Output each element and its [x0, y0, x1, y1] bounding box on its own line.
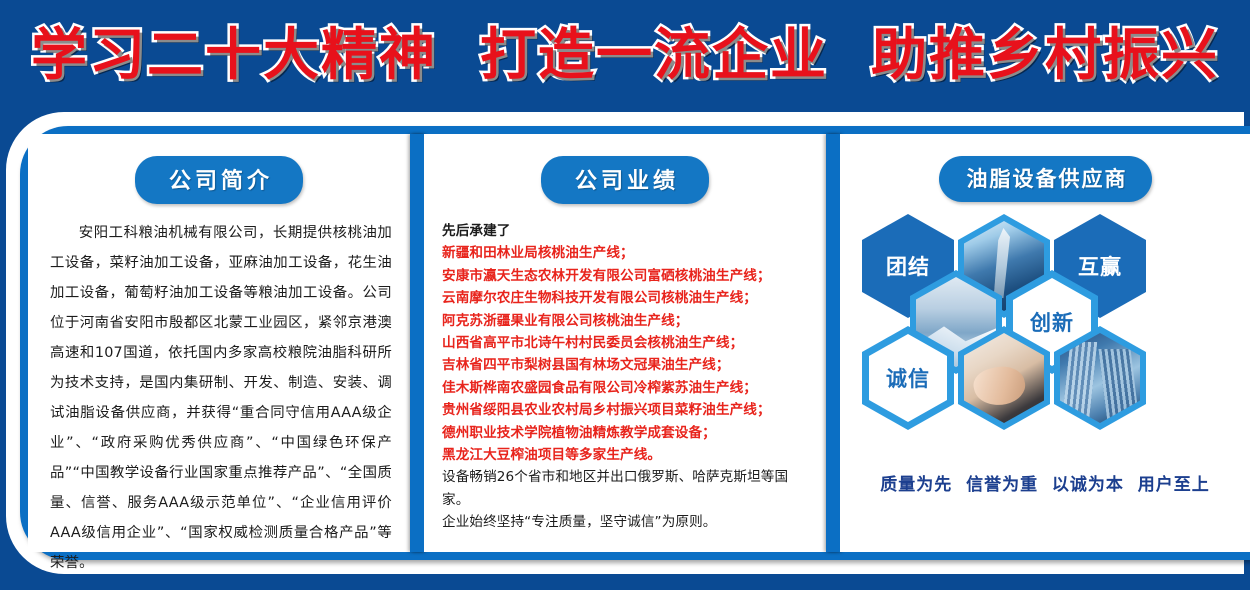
list-item: 佳木斯桦南农盛园食品有限公司冷榨紫苏油生产线； [442, 377, 812, 399]
company-intro-body: 安阳工科粮油机械有限公司，长期提供核桃油加工设备，菜籽油加工设备，亚麻油加工设备… [50, 218, 392, 578]
heading-company-performance: 公司业绩 [541, 156, 709, 204]
hexagon-unity-label: 团结 [886, 251, 930, 281]
list-item: 云南摩尔农庄生物科技开发有限公司核桃油生产线； [442, 287, 812, 309]
performance-tail-line: 企业始终坚持“专注质量，坚守诚信”为原则。 [442, 511, 812, 533]
panel-company-performance: 公司业绩 先后承建了 新疆和田林业局核桃油生产线； 安康市瀛天生态农林开发有限公… [424, 134, 826, 552]
hexagon-integrity-label: 诚信 [886, 363, 930, 393]
list-item: 阿克苏浙疆果业有限公司核桃油生产线； [442, 310, 812, 332]
hexagon-cluster: 团结 互赢 创新 [840, 214, 1250, 464]
column-separator-1 [410, 134, 424, 552]
skyscrapers-icon [1060, 333, 1140, 423]
panel-company-intro: 公司简介 安阳工科粮油机械有限公司，长期提供核桃油加工设备，菜籽油加工设备，亚麻… [28, 134, 410, 552]
list-item: 吉林省四平市梨树县国有林场文冠果油生产线； [442, 354, 812, 376]
list-item: 山西省高平市北诗午村村民委员会核桃油生产线； [442, 332, 812, 354]
panel-columns: 公司简介 安阳工科粮油机械有限公司，长期提供核桃油加工设备，菜籽油加工设备，亚麻… [28, 134, 1250, 552]
handshake-icon [964, 333, 1044, 423]
panel-supplier: 油脂设备供应商 团结 互赢 [840, 134, 1250, 552]
heading-company-intro: 公司简介 [135, 156, 303, 204]
hexagon-mutual-win-label: 互赢 [1078, 251, 1122, 281]
heading-supplier: 油脂设备供应商 [939, 156, 1152, 202]
page-title: 学习二十大精神 打造一流企业 助推乡村振兴 [31, 28, 1219, 84]
performance-tail-line: 设备畅销26个省市和地区并出口俄罗斯、哈萨克斯坦等国家。 [442, 466, 812, 511]
list-item: 新疆和田林业局核桃油生产线； [442, 242, 812, 264]
supplier-slogan: 质量为先 信誉为重 以诚为本 用户至上 [880, 470, 1210, 495]
list-item: 贵州省绥阳县农业农村局乡村振兴项目菜籽油生产线； [442, 399, 812, 421]
list-item: 黑龙江大豆榨油项目等多家生产线。 [442, 444, 812, 466]
performance-project-list: 新疆和田林业局核桃油生产线； 安康市瀛天生态农林开发有限公司富硒核桃油生产线； … [442, 242, 812, 466]
performance-lead: 先后承建了 [442, 220, 812, 242]
board-title-band: 学习二十大精神 打造一流企业 助推乡村振兴 [0, 0, 1250, 112]
company-performance-body: 先后承建了 新疆和田林业局核桃油生产线； 安康市瀛天生态农林开发有限公司富硒核桃… [442, 220, 812, 534]
performance-tail: 设备畅销26个省市和地区并出口俄罗斯、哈萨克斯坦等国家。 企业始终坚持“专注质量… [442, 466, 812, 533]
list-item: 安康市瀛天生态农林开发有限公司富硒核桃油生产线； [442, 265, 812, 287]
hexagon-innovation-label: 创新 [1030, 307, 1074, 337]
display-board: 学习二十大精神 打造一流企业 助推乡村振兴 公司简介 安阳工科粮油机械有限公司，… [0, 0, 1250, 590]
column-separator-2 [826, 134, 840, 552]
list-item: 德州职业技术学院植物油精炼教学成套设备； [442, 422, 812, 444]
